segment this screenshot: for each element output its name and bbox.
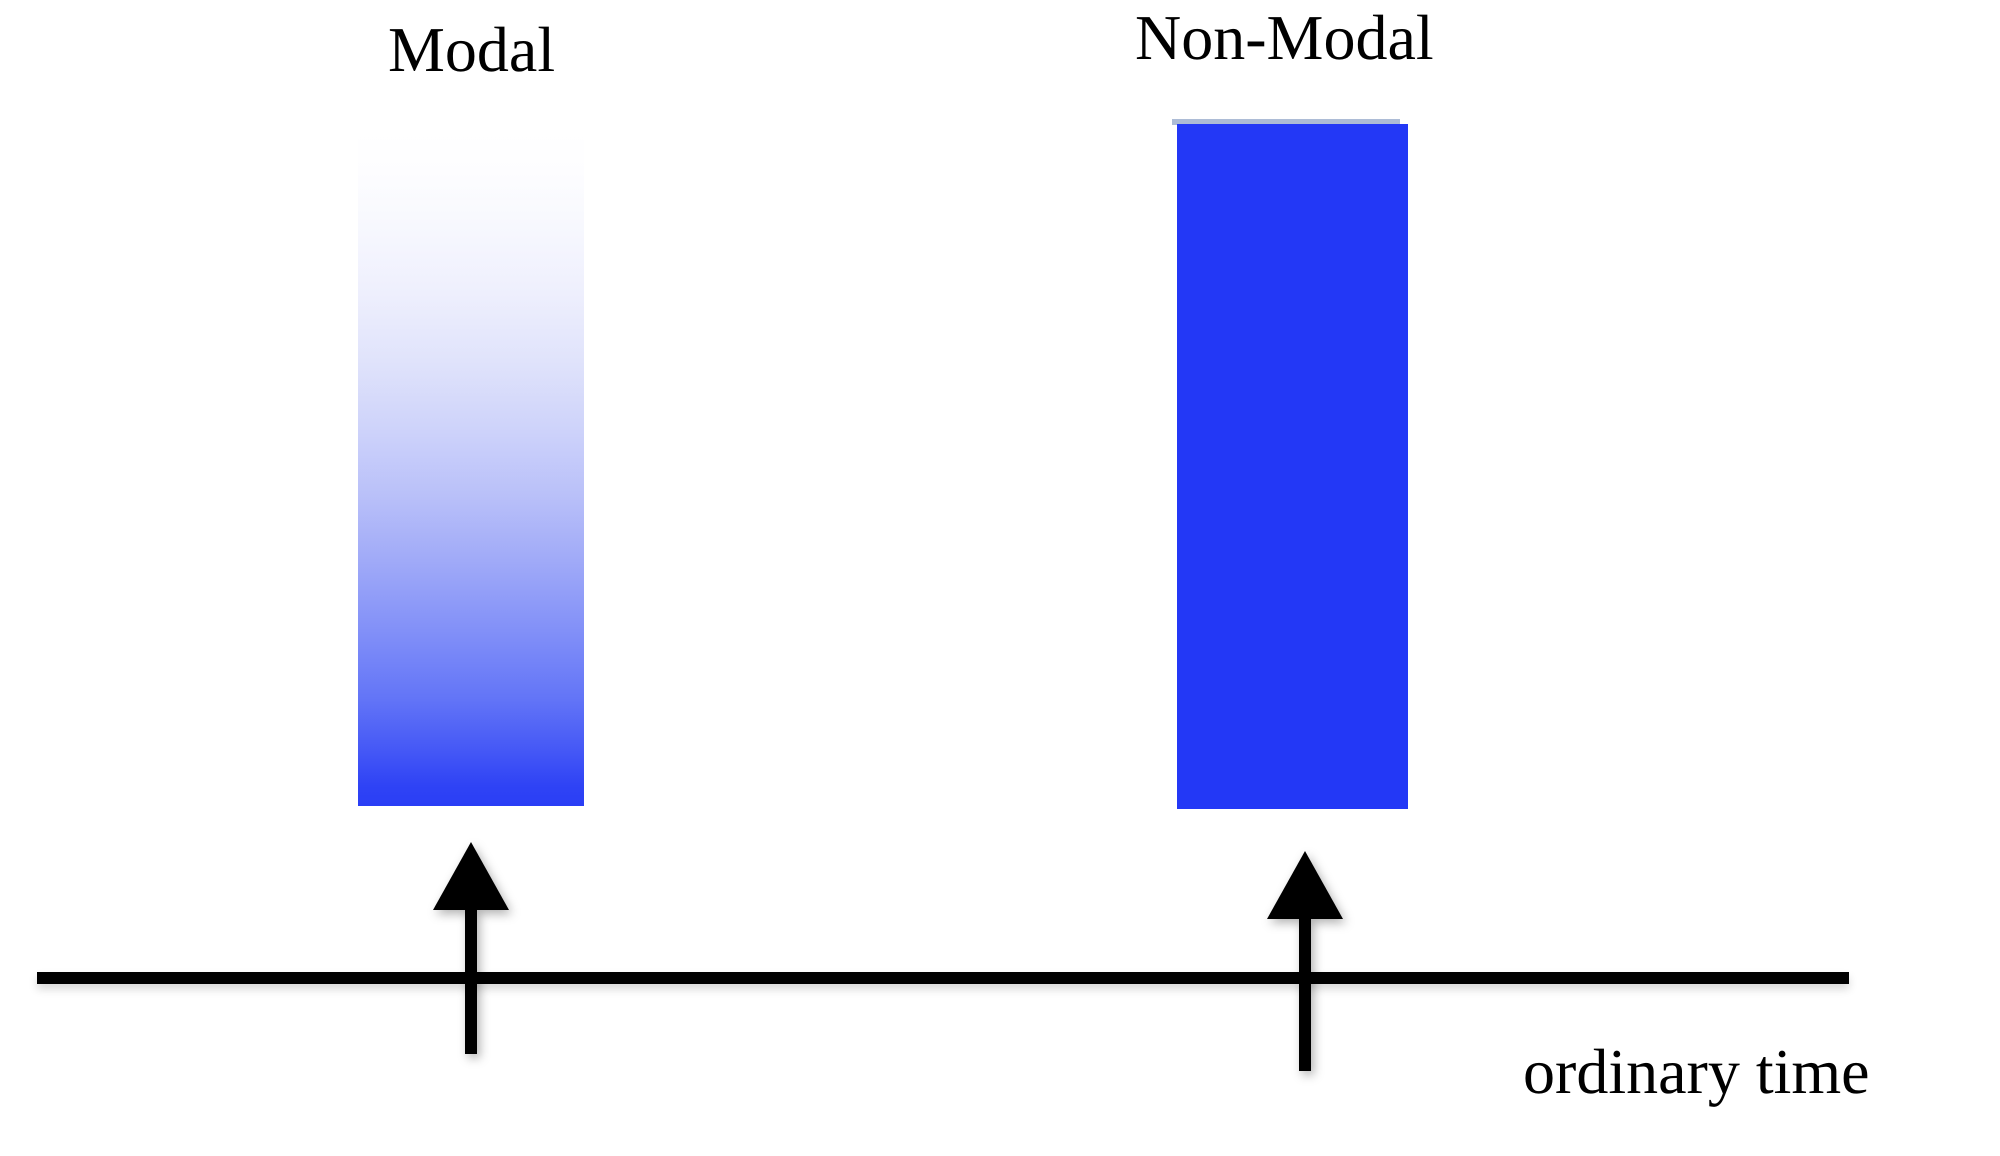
non-modal-time-marker-arrow-icon: [1249, 849, 1361, 1075]
figure-canvas: Modal Non-Modal ordinary time: [0, 0, 2000, 1156]
label-modal: Modal: [388, 18, 555, 82]
label-non-modal: Non-Modal: [1135, 6, 1434, 70]
bar-modal: [358, 132, 584, 806]
modal-time-marker-arrow-icon: [415, 840, 527, 1058]
axis-caption-ordinary-time: ordinary time: [1523, 1040, 1870, 1104]
bar-non-modal: [1177, 124, 1408, 809]
ordinary-time-axis-line: [37, 972, 1849, 984]
